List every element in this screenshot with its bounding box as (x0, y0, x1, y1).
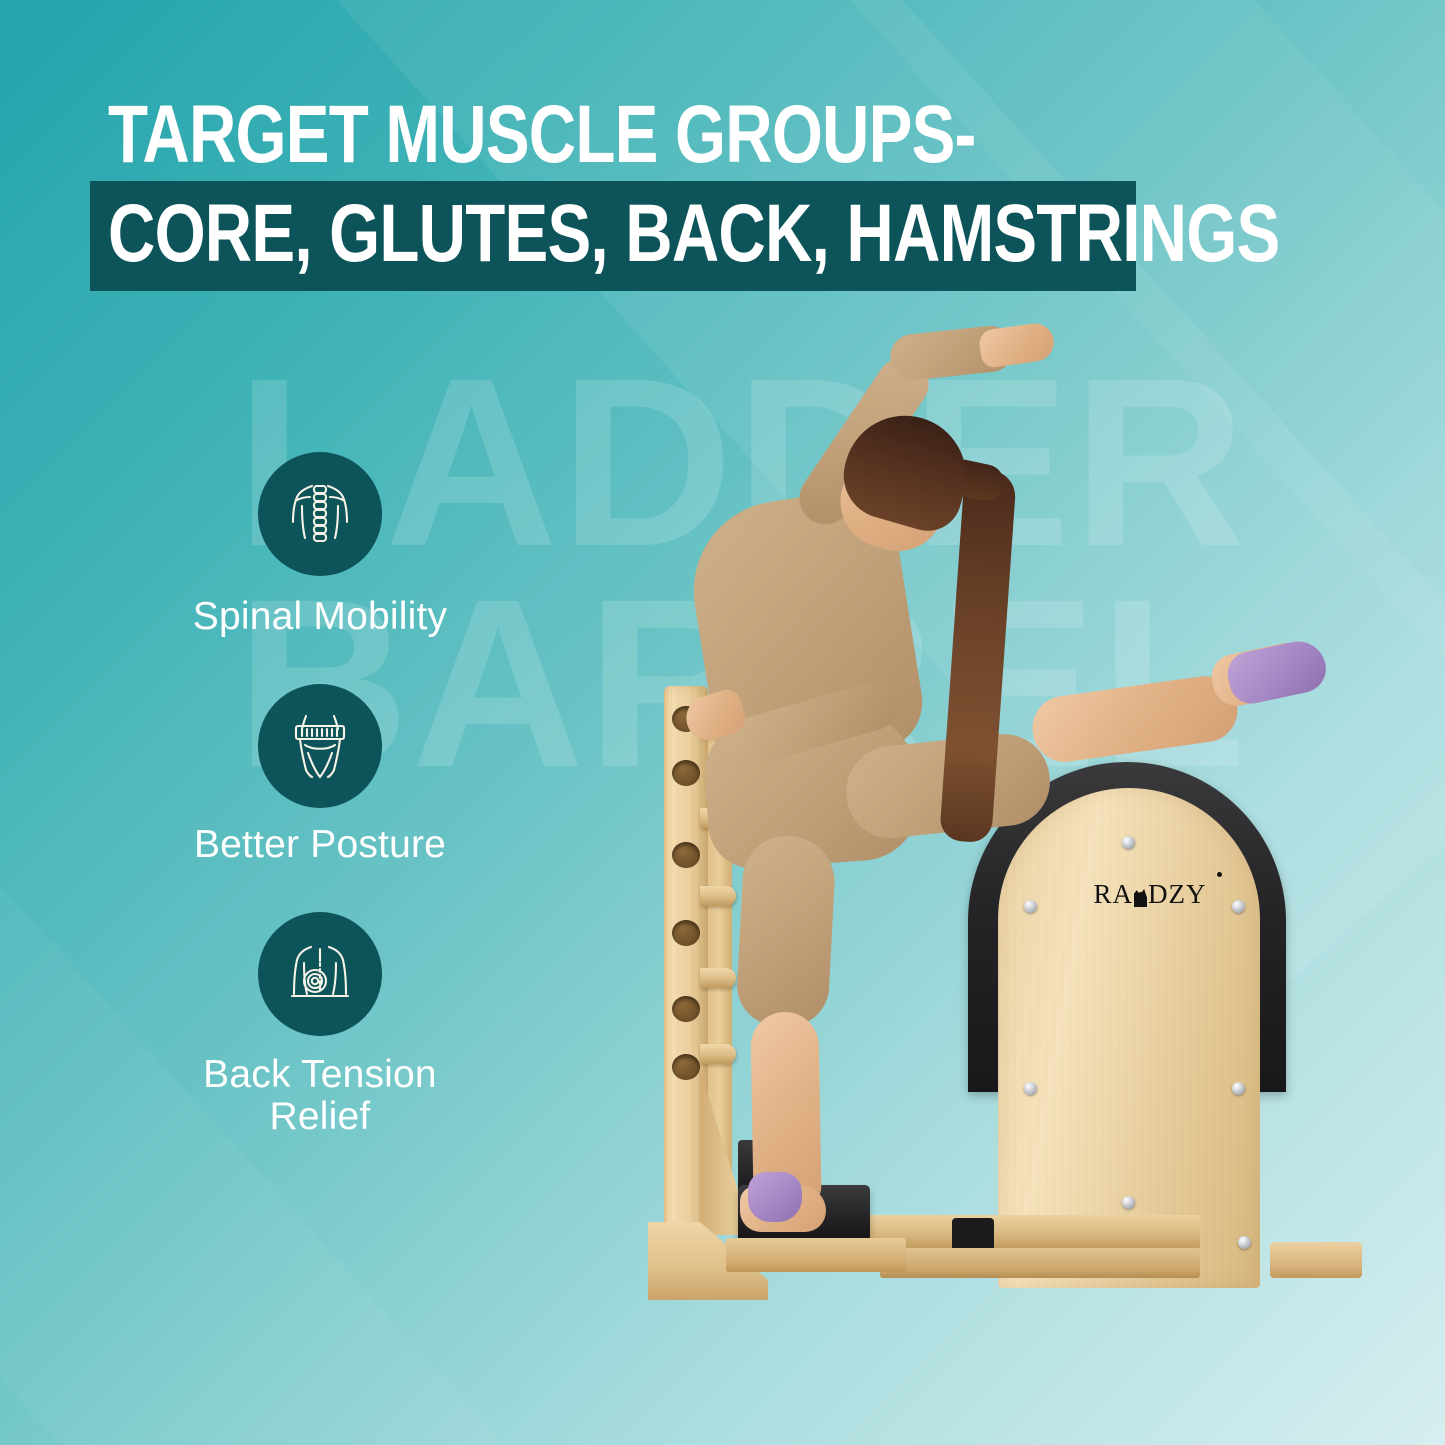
benefit-feature-list: Spinal Mobility Better Posture (140, 452, 500, 1184)
brand-prefix: RA (1093, 879, 1133, 909)
headline-line-2: CORE, GLUTES, BACK, HAMSTRINGS (108, 193, 930, 275)
ladder-hole (672, 1054, 700, 1080)
screw-icon (1024, 1082, 1037, 1095)
model-extended-shin (1028, 672, 1241, 766)
waist-measuring-tape-icon (282, 708, 358, 784)
ladder-rung (700, 968, 736, 988)
feature-better-posture: Better Posture (140, 684, 500, 866)
brand-suffix: DZY (1148, 879, 1207, 909)
feature-label: Better Posture (140, 824, 500, 866)
headline-line-1: TARGET MUSCLE GROUPS- (108, 96, 1178, 175)
screw-icon (1024, 900, 1037, 913)
feature-label-line-1: Back Tension (140, 1054, 500, 1096)
spine-torso-icon (282, 476, 358, 552)
base-rail (860, 1215, 1200, 1249)
brand-dot-icon (1217, 872, 1222, 877)
screw-icon (1122, 1196, 1135, 1209)
model-grip-sock-right (1224, 636, 1331, 707)
screw-icon (1122, 836, 1135, 849)
screw-icon (1232, 900, 1245, 913)
brand-logo: RADZY (1080, 879, 1220, 910)
feature-back-tension-relief: Back Tension Relief (140, 912, 500, 1138)
base-rail-lower (880, 1248, 1200, 1278)
promo-poster: LADDER BARREL RADZY (0, 0, 1445, 1445)
model-standing-thigh (735, 834, 837, 1029)
ladder-hole (672, 996, 700, 1022)
screw-icon (1232, 1082, 1245, 1095)
model-grip-sock-left (748, 1172, 802, 1222)
back-pain-point-icon (282, 936, 358, 1012)
screw-icon (1238, 1236, 1251, 1249)
cat-silhouette-icon (1133, 885, 1148, 907)
barrel-wood-panel (998, 788, 1260, 1288)
feature-badge (258, 684, 382, 808)
feature-label-line-2: Relief (140, 1096, 500, 1138)
ladder-rung (700, 1044, 736, 1064)
feature-label: Spinal Mobility (140, 596, 500, 638)
feature-badge (258, 912, 382, 1036)
ladder-hole (672, 760, 700, 786)
headline-highlight-band: CORE, GLUTES, BACK, HAMSTRINGS (90, 181, 1136, 291)
ladder-hole (672, 842, 700, 868)
headline-block: TARGET MUSCLE GROUPS- CORE, GLUTES, BACK… (0, 96, 1445, 291)
ladder-hole (672, 920, 700, 946)
feature-label: Back Tension Relief (140, 1054, 500, 1138)
feature-spinal-mobility: Spinal Mobility (140, 452, 500, 638)
ladder-rung (700, 886, 736, 906)
base-rail-right-end (1270, 1242, 1362, 1278)
feature-badge (258, 452, 382, 576)
step-wooden-base (726, 1238, 906, 1272)
